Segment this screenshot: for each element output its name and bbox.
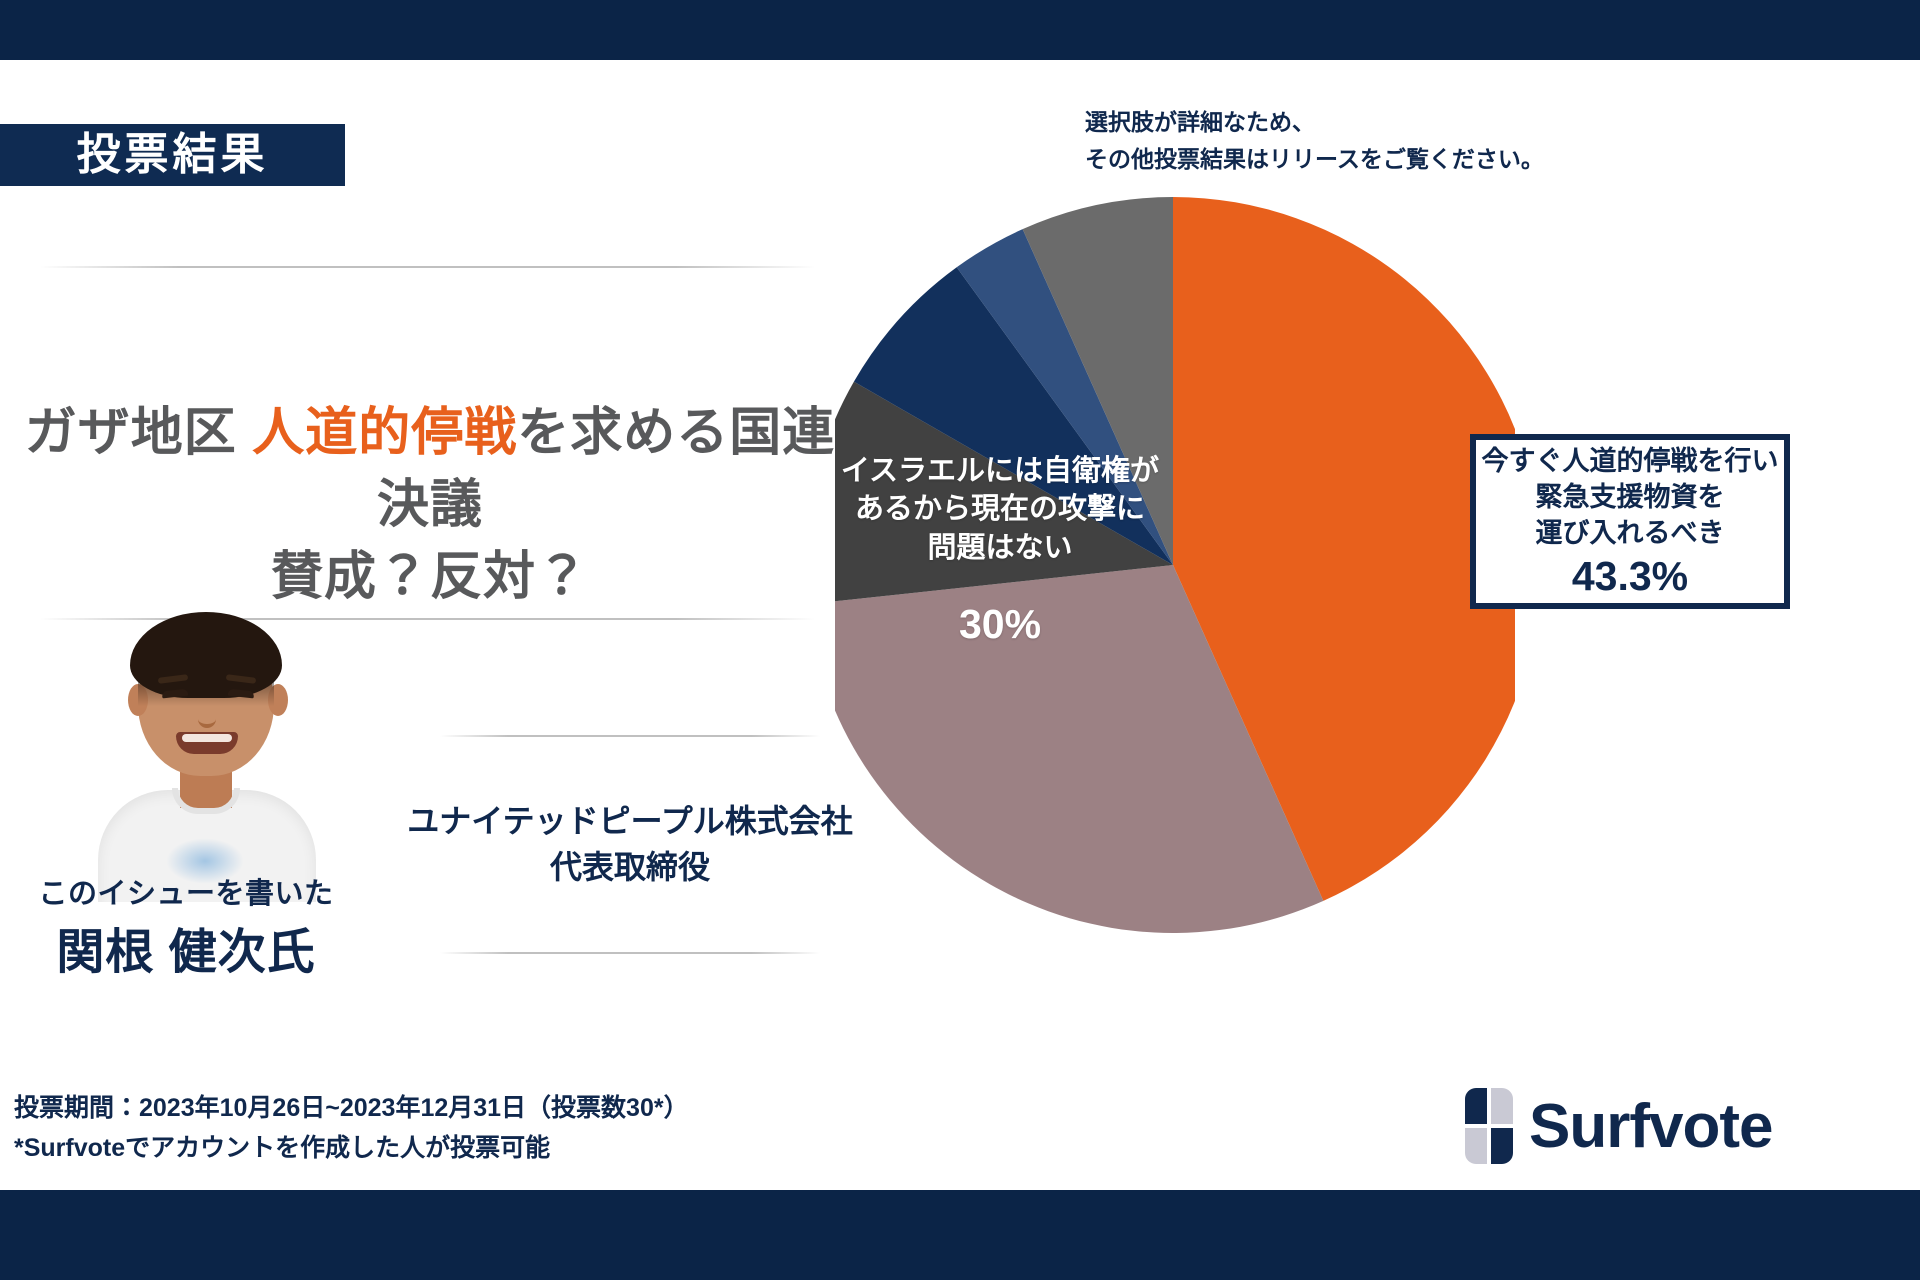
- result-badge: 投票結果: [0, 124, 345, 186]
- divider-company-top: [440, 735, 820, 737]
- chart-annotation: 選択肢が詳細なため、 その他投票結果はリリースをご覧ください。: [1085, 104, 1885, 178]
- vote-eligibility-note: *Surfvoteでアカウントを作成した人が投票可能: [14, 1128, 914, 1168]
- author-kicker: このイシューを書いた: [26, 870, 346, 912]
- headline-line2: 賛成？反対？: [271, 548, 589, 606]
- author-role: 代表取締役: [400, 844, 860, 890]
- hair-shape: [130, 612, 282, 698]
- result-badge-label: 投票結果: [77, 133, 269, 177]
- headline-before: ガザ地区: [25, 404, 252, 462]
- callout-line-1: 今すぐ人道的停戦を行い: [1482, 443, 1779, 479]
- surfvote-wordmark: Surfvote: [1529, 1091, 1772, 1162]
- callout-line-3: 運び入れるべき: [1536, 515, 1725, 551]
- callout-line-2: 緊急支援物資を: [1536, 479, 1725, 515]
- mark-quadrant-top-right: [1491, 1088, 1513, 1124]
- divider-company-bottom: [440, 952, 820, 954]
- annotation-line-1: 選択肢が詳細なため、: [1085, 104, 1885, 141]
- pie-callout-box: 今すぐ人道的停戦を行い 緊急支援物資を 運び入れるべき 43.3%: [1470, 434, 1790, 609]
- headline-highlight: 人道的停戦: [252, 404, 517, 462]
- page-title: ガザ地区 人道的停戦を求める国連決議 賛成？反対？: [0, 398, 860, 613]
- pie-slice-label-mauve: イスラエルには自衛権が あるから現在の攻撃に 問題はない 30%: [830, 452, 1170, 651]
- mauve-label-line-1: イスラエルには自衛権が: [841, 455, 1159, 487]
- mark-quadrant-top-left: [1465, 1088, 1487, 1124]
- bottom-bar: [0, 1190, 1920, 1280]
- surfvote-logo: Surfvote: [1465, 1088, 1772, 1164]
- author-company: ユナイテッドピープル株式会社: [400, 798, 860, 844]
- mauve-label-line-3: 問題はない: [927, 532, 1072, 564]
- vote-period: 投票期間：2023年10月26日~2023年12月31日（投票数30*）: [14, 1088, 914, 1128]
- mauve-label-line-2: あるから現在の攻撃に: [855, 493, 1145, 525]
- author-photo: [92, 612, 322, 902]
- mouth-shape: [176, 732, 238, 754]
- annotation-line-2: その他投票結果はリリースをご覧ください。: [1085, 141, 1885, 178]
- author-name: 関根 健次氏: [26, 912, 346, 982]
- footer-note: 投票期間：2023年10月26日~2023年12月31日（投票数30*） *Su…: [14, 1088, 914, 1168]
- top-bar: [0, 0, 1920, 60]
- divider-top: [40, 266, 815, 268]
- surfvote-mark-icon: [1465, 1088, 1513, 1164]
- mark-quadrant-bottom-left: [1465, 1128, 1487, 1164]
- mauve-label-percent: 30%: [830, 597, 1170, 651]
- nose-shape: [198, 708, 216, 728]
- callout-percent: 43.3%: [1572, 553, 1688, 600]
- mark-quadrant-bottom-right: [1491, 1128, 1513, 1164]
- author-company-block: ユナイテッドピープル株式会社 代表取締役: [400, 798, 860, 891]
